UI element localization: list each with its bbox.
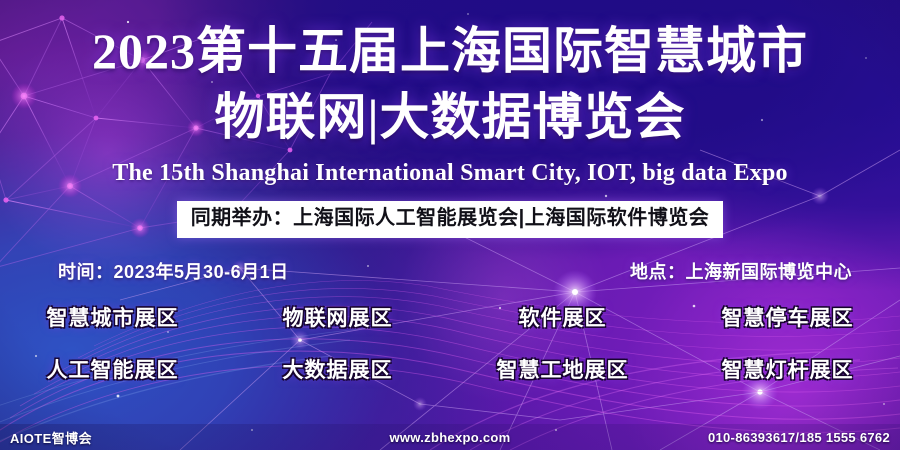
exhibition-zones: 智慧城市展区 物联网展区 软件展区 智慧停车展区 人工智能展区 大数据展区 智慧… — [0, 302, 900, 384]
footer-website[interactable]: www.zbhexpo.com — [389, 430, 510, 445]
zone-item: 智慧城市展区 — [0, 302, 225, 332]
event-meta-row: 时间：2023年5月30-6月1日 地点：上海新国际博览中心 — [0, 258, 900, 286]
zone-item: 物联网展区 — [225, 302, 450, 332]
english-subtitle: The 15th Shanghai International Smart Ci… — [112, 160, 787, 187]
zone-item: 人工智能展区 — [0, 354, 225, 384]
zone-item: 大数据展区 — [225, 354, 450, 384]
zone-row-1: 智慧城市展区 物联网展区 软件展区 智慧停车展区 — [0, 302, 900, 332]
main-title-line-1: 2023第十五届上海国际智慧城市 — [92, 26, 808, 76]
zone-item: 智慧工地展区 — [450, 354, 675, 384]
banner-content: 2023第十五届上海国际智慧城市 物联网|大数据博览会 The 15th Sha… — [0, 0, 900, 450]
expo-banner: 2023第十五届上海国际智慧城市 物联网|大数据博览会 The 15th Sha… — [0, 0, 900, 450]
event-venue: 地点：上海新国际博览中心 — [630, 258, 852, 284]
zone-row-2: 人工智能展区 大数据展区 智慧工地展区 智慧灯杆展区 — [0, 354, 900, 384]
banner-footer: AIOTE智博会 www.zbhexpo.com 010-86393617/18… — [0, 424, 900, 450]
main-title-line-2: 物联网|大数据博览会 — [214, 92, 685, 142]
footer-phone: 010-86393617/185 1555 6762 — [708, 430, 890, 445]
footer-brand: AIOTE智博会 — [10, 428, 92, 447]
zone-item: 智慧灯杆展区 — [675, 354, 900, 384]
concurrent-events-box: 同期举办：上海国际人工智能展览会|上海国际软件博览会 — [177, 201, 724, 238]
event-date: 时间：2023年5月30-6月1日 — [58, 258, 289, 284]
zone-item: 智慧停车展区 — [675, 302, 900, 332]
zone-item: 软件展区 — [450, 302, 675, 332]
